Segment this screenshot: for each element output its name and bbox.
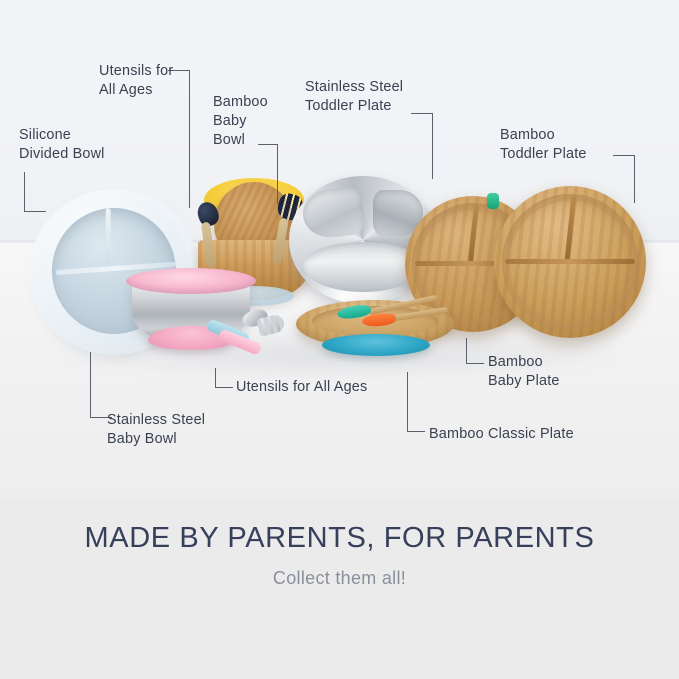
label-stainless-steel-toddler-plate: Stainless Steel Toddler Plate: [305, 78, 445, 116]
label-bamboo-baby-bowl: Bamboo Baby Bowl: [213, 93, 303, 150]
silicone-bowl-divider-vertical: [106, 208, 111, 270]
stainless-baby-bowl-pink-lid: [126, 268, 256, 294]
leader-line-stainless-baby-bowl: [90, 352, 112, 420]
product-lineup-poster: Silicone Divided Bowl Utensils for All A…: [0, 0, 679, 679]
label-bamboo-baby-plate: Bamboo Baby Plate: [488, 353, 628, 391]
leader-line-stainless-toddler-plate: [411, 113, 435, 181]
label-silicone-divided-bowl: Silicone Divided Bowl: [19, 126, 189, 164]
navy-fork-handle: [272, 218, 289, 265]
bamboo-classic-plate-blue-suction-base: [322, 334, 430, 356]
footer-headline: MADE BY PARENTS, FOR PARENTS: [0, 522, 679, 555]
product-bamboo-toddler-plate-front: [494, 186, 646, 338]
green-silicone-tab: [487, 193, 499, 209]
label-bamboo-toddler-plate: Bamboo Toddler Plate: [500, 126, 650, 164]
navy-spoon-handle: [201, 222, 216, 269]
label-stainless-steel-baby-bowl: Stainless Steel Baby Bowl: [107, 411, 267, 449]
footer-subline: Collect them all!: [0, 568, 679, 589]
leader-line-bamboo-baby-bowl: [258, 144, 280, 206]
bamboo-plate-front-divider-horizontal: [505, 259, 636, 264]
product-utensil-navy-spoon: [196, 196, 226, 266]
label-bamboo-classic-plate: Bamboo Classic Plate: [429, 425, 629, 444]
label-utensils-for-all-ages-top: Utensils for All Ages: [99, 62, 219, 100]
leader-line-silicone-divided-bowl: [24, 172, 46, 214]
leader-line-bamboo-baby-plate: [466, 338, 484, 366]
leader-line-utensils-bottom: [215, 368, 233, 390]
label-utensils-for-all-ages-bottom: Utensils for All Ages: [236, 378, 416, 397]
product-utensils-blue-pink: [206, 308, 298, 356]
